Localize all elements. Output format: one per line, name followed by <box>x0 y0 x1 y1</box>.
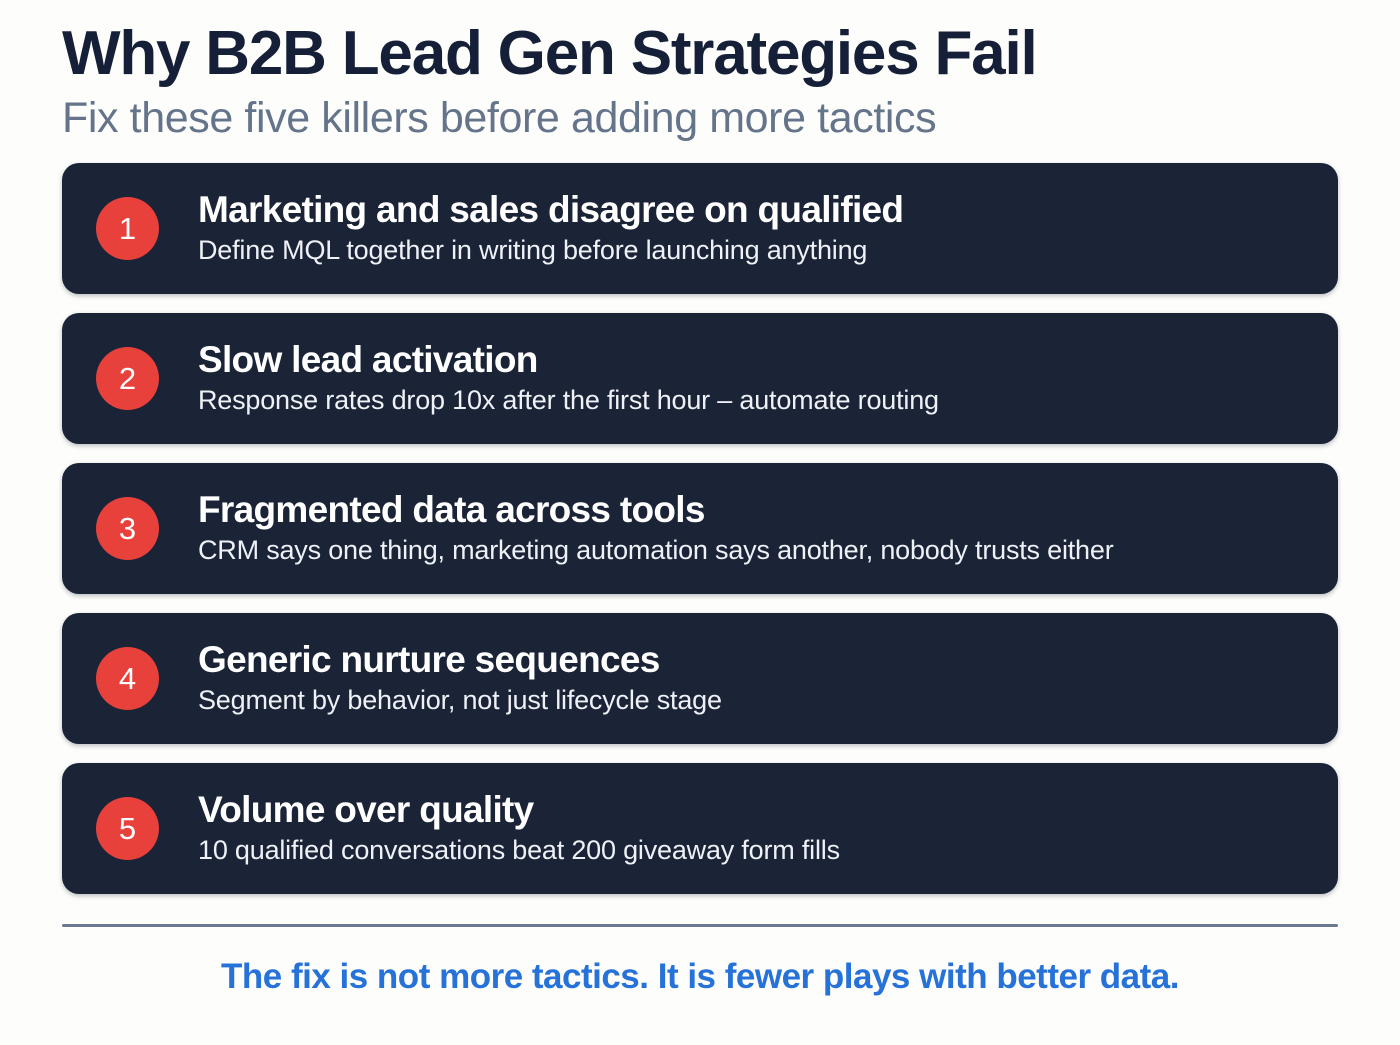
page-subtitle: Fix these five killers before adding mor… <box>62 95 1338 141</box>
footer-takeaway: The fix is not more tactics. It is fewer… <box>62 957 1338 997</box>
card-description: Define MQL together in writing before la… <box>198 235 903 266</box>
reason-card-list: 1 Marketing and sales disagree on qualif… <box>62 163 1338 894</box>
reason-card-3: 3 Fragmented data across tools CRM says … <box>62 463 1338 594</box>
card-title: Slow lead activation <box>198 339 939 380</box>
card-title: Generic nurture sequences <box>198 639 722 680</box>
number-badge: 5 <box>96 797 159 860</box>
card-title: Fragmented data across tools <box>198 489 1114 530</box>
card-description: Response rates drop 10x after the first … <box>198 385 939 416</box>
card-text-block: Fragmented data across tools CRM says on… <box>198 489 1114 568</box>
card-title: Volume over quality <box>198 789 840 830</box>
card-description: 10 qualified conversations beat 200 give… <box>198 835 840 866</box>
card-text-block: Marketing and sales disagree on qualifie… <box>198 189 903 268</box>
page-title: Why B2B Lead Gen Strategies Fail <box>62 22 1338 86</box>
number-badge: 2 <box>96 347 159 410</box>
reason-card-2: 2 Slow lead activation Response rates dr… <box>62 313 1338 444</box>
reason-card-1: 1 Marketing and sales disagree on qualif… <box>62 163 1338 294</box>
number-badge: 1 <box>96 197 159 260</box>
footer-divider <box>62 924 1338 927</box>
reason-card-4: 4 Generic nurture sequences Segment by b… <box>62 613 1338 744</box>
infographic-poster: Why B2B Lead Gen Strategies Fail Fix the… <box>0 0 1400 1045</box>
number-badge: 4 <box>96 647 159 710</box>
header: Why B2B Lead Gen Strategies Fail Fix the… <box>62 0 1338 142</box>
number-badge: 3 <box>96 497 159 560</box>
card-text-block: Slow lead activation Response rates drop… <box>198 339 939 418</box>
card-text-block: Volume over quality 10 qualified convers… <box>198 789 840 868</box>
card-description: CRM says one thing, marketing automation… <box>198 535 1114 566</box>
card-description: Segment by behavior, not just lifecycle … <box>198 685 722 716</box>
card-text-block: Generic nurture sequences Segment by beh… <box>198 639 722 718</box>
card-title: Marketing and sales disagree on qualifie… <box>198 189 903 230</box>
reason-card-5: 5 Volume over quality 10 qualified conve… <box>62 763 1338 894</box>
